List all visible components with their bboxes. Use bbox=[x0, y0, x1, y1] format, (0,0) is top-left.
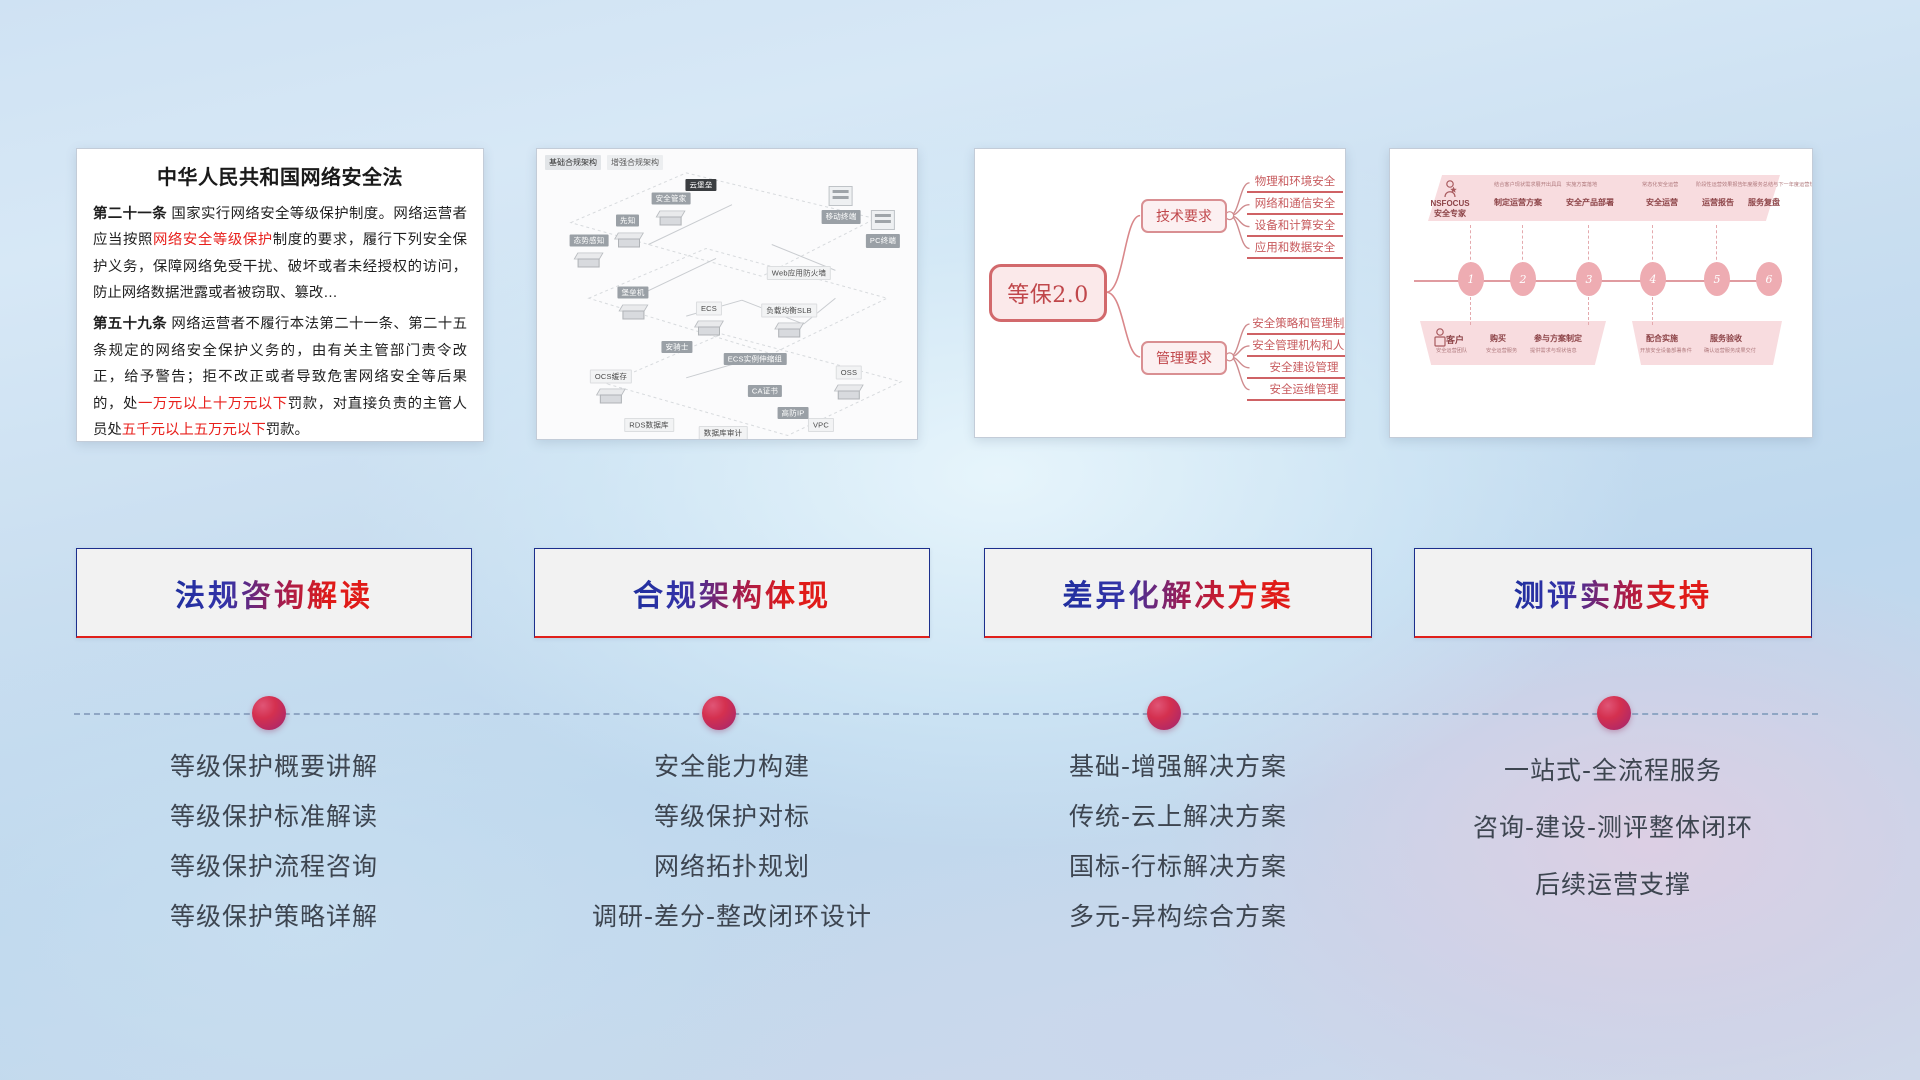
top-step-2-sub: 实施方案落地 bbox=[1566, 181, 1597, 188]
node-anqishi: 安骑士 bbox=[661, 336, 692, 354]
bottom-step-1-title: 购买 bbox=[1490, 333, 1506, 344]
architecture-diagram: 基础合规架构 增强合规架构 bbox=[537, 149, 917, 439]
section-items-2: 安全能力构建 等级保护对标 网络拓扑规划 调研-差分-整改闭环设计 bbox=[534, 742, 930, 942]
law-article-21: 第二十一条 国家实行网络安全等级保护制度。网络运营者应当按照网络安全等级保护制度… bbox=[93, 201, 467, 306]
law-article-59-text-c: 罚款。 bbox=[266, 422, 309, 438]
timeline-node-4[interactable] bbox=[1597, 696, 1631, 730]
section-title-text-3: 差异化解决方案 bbox=[1063, 571, 1294, 615]
list-item: 多元-异构综合方案 bbox=[984, 892, 1372, 942]
mindmap-branch-management: 管理要求 bbox=[1141, 341, 1227, 375]
node-load-balancer: 负载均衡SLB bbox=[761, 300, 817, 339]
list-item: 咨询-建设-测评整体闭环 bbox=[1414, 799, 1812, 856]
timeline-step-number-4: 4 bbox=[1640, 262, 1666, 296]
mindmap-leaf-policy: 安全策略和管理制度 bbox=[1247, 315, 1346, 335]
timeline-stem-4 bbox=[1652, 225, 1653, 265]
top-step-3-sub: 常态化安全运营 bbox=[1642, 181, 1678, 188]
timeline-node-1[interactable] bbox=[252, 696, 286, 730]
law-document: 中华人民共和国网络安全法 第二十一条 国家实行网络安全等级保护制度。网络运营者应… bbox=[77, 149, 483, 442]
node-database-audit: 数据库审计 bbox=[699, 422, 748, 440]
node-web-waf: Web应用防火墙 bbox=[767, 262, 831, 280]
list-item: 调研-差分-整改闭环设计 bbox=[534, 892, 930, 942]
mindmap-diagram: 等保2.0 技术要求 管理要求 物理和环境安全 网络和通信安全 设备和计算安全 … bbox=[975, 149, 1345, 437]
top-step-5-sub: 年度服务总结与下一年度运营规划 bbox=[1742, 181, 1813, 188]
bottom-step-2-title: 参与方案制定 bbox=[1534, 333, 1582, 344]
mindmap-leaf-org: 安全管理机构和人员 bbox=[1247, 337, 1346, 357]
list-item: 等级保护流程咨询 bbox=[76, 842, 472, 892]
timeline-diagram: NSFOCUS安全专家 结合客户现状需求展开出具具 制定运营方案 实施方案落地 … bbox=[1390, 149, 1812, 437]
section-title-box-1[interactable]: 法规咨询解读 bbox=[76, 548, 472, 638]
list-item: 安全能力构建 bbox=[534, 742, 930, 792]
section-items-3: 基础-增强解决方案 传统-云上解决方案 国标-行标解决方案 多元-异构综合方案 bbox=[984, 742, 1372, 942]
top-step-1-sub: 结合客户现状需求展开出具具 bbox=[1494, 181, 1561, 188]
top-step-4-sub: 阶段性运营效果报告 bbox=[1696, 181, 1743, 188]
section-title-box-3[interactable]: 差异化解决方案 bbox=[984, 548, 1372, 638]
card-service-timeline[interactable]: NSFOCUS安全专家 结合客户现状需求展开出具具 制定运营方案 实施方案落地 … bbox=[1389, 148, 1813, 438]
list-item: 等级保护概要讲解 bbox=[76, 742, 472, 792]
section-title-box-2[interactable]: 合规架构体现 bbox=[534, 548, 930, 638]
node-pc-terminal: PC终端 bbox=[866, 210, 900, 248]
node-rds-database: RDS数据库 bbox=[624, 414, 674, 432]
customer-role-label: 客户 bbox=[1446, 333, 1464, 346]
timeline-stem-6 bbox=[1470, 297, 1471, 325]
timeline-stem-7 bbox=[1588, 297, 1589, 325]
law-article-59: 第五十九条 网络运营者不履行本法第二十一条、第二十五条规定的网络安全保护义务的，… bbox=[93, 311, 467, 442]
law-article-21-label: 第二十一条 bbox=[93, 206, 167, 222]
bottom-step-2-sub: 提供需求与现状信息 bbox=[1530, 347, 1577, 354]
bottom-step-3-sub: 开放安全设备部署条件 bbox=[1640, 347, 1692, 354]
top-step-1-title: 制定运营方案 bbox=[1494, 197, 1542, 208]
law-article-59-label: 第五十九条 bbox=[93, 316, 167, 332]
top-step-2-title: 安全产品部署 bbox=[1566, 197, 1614, 208]
timeline-step-number-1: 1 bbox=[1458, 262, 1484, 296]
mindmap-leaf-physical: 物理和环境安全 bbox=[1247, 173, 1343, 193]
section-titles-row: 法规咨询解读 合规架构体现 差异化解决方案 测评实施支持 bbox=[0, 548, 1920, 640]
law-article-59-highlight-2: 五千元以上五万元以下 bbox=[122, 422, 266, 438]
mindmap-leaf-operations: 安全运维管理 bbox=[1247, 381, 1346, 401]
timeline-stem-5 bbox=[1716, 225, 1717, 265]
timeline-node-3[interactable] bbox=[1147, 696, 1181, 730]
list-item: 一站式-全流程服务 bbox=[1414, 742, 1812, 799]
timeline-step-number-3: 3 bbox=[1576, 262, 1602, 296]
mindmap-leaf-device: 设备和计算安全 bbox=[1247, 217, 1343, 237]
timeline-node-2[interactable] bbox=[702, 696, 736, 730]
bottom-step-4-title: 服务验收 bbox=[1710, 333, 1742, 344]
timeline-stem-3 bbox=[1588, 225, 1589, 265]
timeline-stem-2 bbox=[1522, 225, 1523, 265]
node-ecs: ECS bbox=[696, 298, 722, 337]
node-mobile-terminal: 移动终端 bbox=[822, 186, 861, 224]
timeline-axis bbox=[0, 694, 1920, 734]
mindmap-root-node: 等保2.0 bbox=[989, 264, 1107, 322]
list-item: 后续运营支撑 bbox=[1414, 856, 1812, 913]
node-bastion-host: 堡垒机 bbox=[617, 282, 648, 321]
expert-person-icon bbox=[1442, 179, 1458, 199]
card-cybersecurity-law[interactable]: 中华人民共和国网络安全法 第二十一条 国家实行网络安全等级保护制度。网络运营者应… bbox=[76, 148, 484, 442]
customer-role-sub: 安全运营团队 bbox=[1436, 347, 1467, 354]
bottom-step-1-sub: 安全运营服务 bbox=[1486, 347, 1517, 354]
node-oss: OSS bbox=[836, 362, 862, 401]
list-item: 传统-云上解决方案 bbox=[984, 792, 1372, 842]
node-ca-certificate: CA证书 bbox=[748, 380, 782, 398]
timeline-step-number-5: 5 bbox=[1704, 262, 1730, 296]
node-xianzhi: 先知 bbox=[616, 210, 642, 249]
timeline-step-number-6: 6 bbox=[1756, 262, 1782, 296]
node-anti-ddos-ip: 高防IP bbox=[778, 402, 809, 420]
list-item: 网络拓扑规划 bbox=[534, 842, 930, 892]
section-items-4: 一站式-全流程服务 咨询-建设-测评整体闭环 后续运营支撑 bbox=[1414, 742, 1812, 913]
list-item: 基础-增强解决方案 bbox=[984, 742, 1372, 792]
bottom-step-4-sub: 确认运营服务成果交付 bbox=[1704, 347, 1756, 354]
timeline-stem-1 bbox=[1470, 225, 1471, 265]
list-item: 等级保护策略详解 bbox=[76, 892, 472, 942]
node-vpc: VPC bbox=[808, 414, 834, 432]
mindmap-leaf-application: 应用和数据安全 bbox=[1247, 239, 1343, 259]
law-article-21-highlight: 网络安全等级保护 bbox=[153, 232, 273, 248]
section-title-text-1: 法规咨询解读 bbox=[175, 571, 373, 615]
section-title-box-4[interactable]: 测评实施支持 bbox=[1414, 548, 1812, 638]
node-ocs-cache: OCS缓存 bbox=[590, 366, 632, 405]
section-items-row: 等级保护概要讲解 等级保护标准解读 等级保护流程咨询 等级保护策略详解 安全能力… bbox=[0, 742, 1920, 962]
top-step-3-title: 安全运营 bbox=[1646, 197, 1678, 208]
node-security-butler: 安全管家 bbox=[652, 188, 691, 227]
top-step-5-title: 服务复盘 bbox=[1748, 197, 1780, 208]
top-step-4-title: 运营报告 bbox=[1702, 197, 1734, 208]
expert-role-label: NSFOCUS安全专家 bbox=[1428, 199, 1472, 218]
card-mindmap-dengbao[interactable]: 等保2.0 技术要求 管理要求 物理和环境安全 网络和通信安全 设备和计算安全 … bbox=[974, 148, 1346, 438]
bottom-step-3-title: 配合实施 bbox=[1646, 333, 1678, 344]
mindmap-branch-technical: 技术要求 bbox=[1141, 199, 1227, 233]
list-item: 等级保护标准解读 bbox=[76, 792, 472, 842]
thumbnail-cards-row: 中华人民共和国网络安全法 第二十一条 国家实行网络安全等级保护制度。网络运营者应… bbox=[0, 148, 1920, 444]
node-ecs-scaling-group: ECS实例伸缩组 bbox=[724, 348, 787, 366]
law-title: 中华人民共和国网络安全法 bbox=[93, 161, 467, 190]
card-cloud-architecture[interactable]: 基础合规架构 增强合规架构 bbox=[536, 148, 918, 440]
timeline-stem-8 bbox=[1652, 297, 1653, 325]
section-title-text-2: 合规架构体现 bbox=[633, 571, 831, 615]
list-item: 国标-行标解决方案 bbox=[984, 842, 1372, 892]
mindmap-leaf-construction: 安全建设管理 bbox=[1247, 359, 1346, 379]
section-title-text-4: 测评实施支持 bbox=[1514, 571, 1712, 615]
node-situational-awareness: 态势感知 bbox=[570, 230, 609, 269]
section-items-1: 等级保护概要讲解 等级保护标准解读 等级保护流程咨询 等级保护策略详解 bbox=[76, 742, 472, 942]
mindmap-leaf-network: 网络和通信安全 bbox=[1247, 195, 1343, 215]
list-item: 等级保护对标 bbox=[534, 792, 930, 842]
timeline-axis-dashed-line bbox=[74, 713, 1818, 715]
law-article-59-highlight-1: 一万元以上十万元以下 bbox=[138, 396, 288, 412]
timeline-step-number-2: 2 bbox=[1510, 262, 1536, 296]
